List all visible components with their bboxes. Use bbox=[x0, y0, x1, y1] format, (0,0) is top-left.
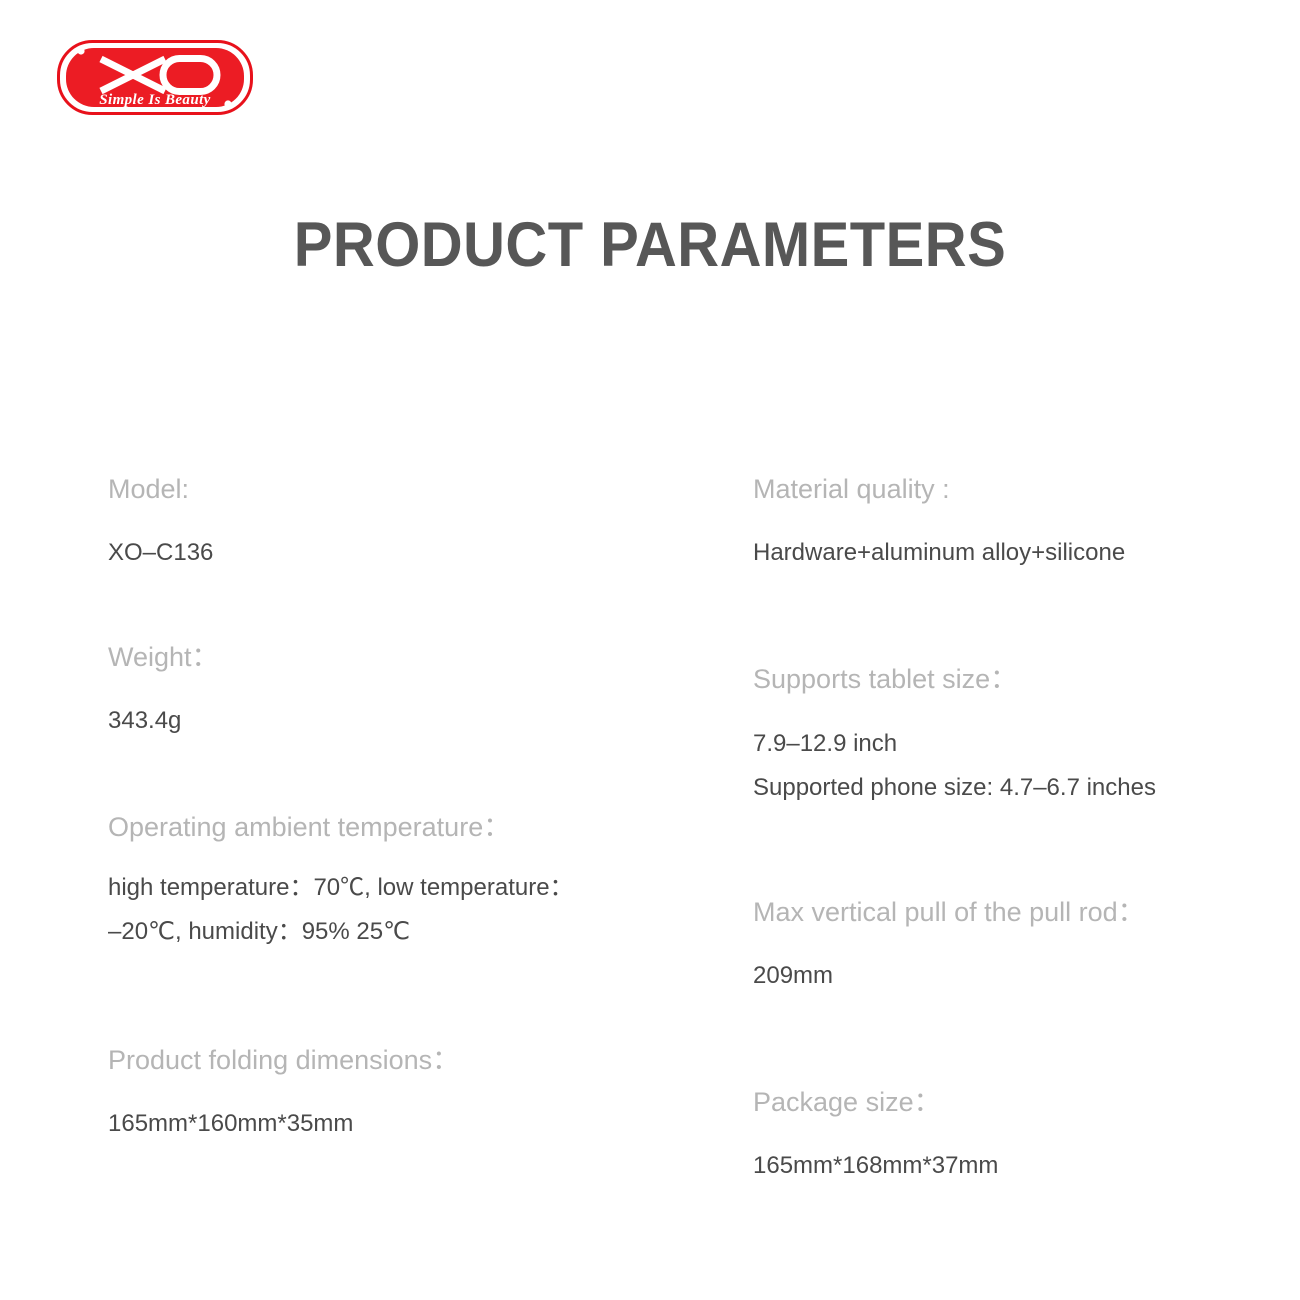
spec-group-supports-tablet-size: Supports tablet size： 7.9–12.9 inch Supp… bbox=[753, 662, 1273, 810]
spec-label-product-folding-dimensions: Product folding dimensions： bbox=[108, 1043, 708, 1077]
spec-label-material-quality: Material quality : bbox=[753, 472, 1273, 506]
spec-label-model: Model: bbox=[108, 472, 708, 506]
spec-values-max-vertical-pull: 209mm bbox=[753, 955, 1273, 997]
spec-label-max-vertical-pull: Max vertical pull of the pull rod： bbox=[753, 895, 1273, 929]
spec-value-phone-size: Supported phone size: 4.7–6.7 inches bbox=[753, 766, 1273, 810]
spec-values-product-folding-dimensions: 165mm*160mm*35mm bbox=[108, 1103, 708, 1145]
spec-value-max-vertical-pull: 209mm bbox=[753, 955, 1273, 997]
brand-logo: Simple Is Beauty bbox=[55, 37, 255, 123]
spec-group-model: Model: XO–C136 bbox=[108, 472, 708, 574]
spec-label-operating-ambient-temperature: Operating ambient temperature： bbox=[108, 810, 708, 844]
spec-value-temperature-line-1: high temperature：70℃, low temperature： bbox=[108, 866, 708, 910]
spec-group-package-size: Package size： 165mm*168mm*37mm bbox=[753, 1085, 1273, 1187]
logo-dot-top-left bbox=[77, 47, 84, 54]
spec-value-model: XO–C136 bbox=[108, 532, 708, 574]
spec-group-material-quality: Material quality : Hardware+aluminum all… bbox=[753, 472, 1273, 574]
spec-label-package-size: Package size： bbox=[753, 1085, 1273, 1119]
spec-value-package-size: 165mm*168mm*37mm bbox=[753, 1145, 1273, 1187]
spec-value-material-quality: Hardware+aluminum alloy+silicone bbox=[753, 532, 1273, 574]
spec-group-max-vertical-pull: Max vertical pull of the pull rod： 209mm bbox=[753, 895, 1273, 997]
spec-group-product-folding-dimensions: Product folding dimensions： 165mm*160mm*… bbox=[108, 1043, 708, 1145]
logo-tagline: Simple Is Beauty bbox=[99, 92, 210, 108]
spec-value-product-folding-dimensions: 165mm*160mm*35mm bbox=[108, 1103, 708, 1145]
spec-values-material-quality: Hardware+aluminum alloy+silicone bbox=[753, 532, 1273, 574]
spec-value-weight: 343.4g bbox=[108, 700, 708, 742]
page-title: PRODUCT PARAMETERS bbox=[52, 214, 1248, 277]
spec-group-weight: Weight： 343.4g bbox=[108, 640, 708, 742]
logo-dot-bottom-right bbox=[224, 100, 231, 107]
spec-values-supports-tablet-size: 7.9–12.9 inch Supported phone size: 4.7–… bbox=[753, 722, 1273, 810]
spec-values-operating-ambient-temperature: high temperature：70℃, low temperature： –… bbox=[108, 866, 708, 954]
spec-values-package-size: 165mm*168mm*37mm bbox=[753, 1145, 1273, 1187]
spec-group-operating-ambient-temperature: Operating ambient temperature： high temp… bbox=[108, 810, 708, 954]
xo-brand-logo-icon: Simple Is Beauty bbox=[55, 37, 255, 123]
spec-value-temperature-line-2: –20℃, humidity：95% 25℃ bbox=[108, 910, 708, 954]
spec-values-weight: 343.4g bbox=[108, 700, 708, 742]
spec-value-tablet-size: 7.9–12.9 inch bbox=[753, 722, 1273, 766]
spec-label-supports-tablet-size: Supports tablet size： bbox=[753, 662, 1273, 696]
spec-label-weight: Weight： bbox=[108, 640, 708, 674]
spec-values-model: XO–C136 bbox=[108, 532, 708, 574]
